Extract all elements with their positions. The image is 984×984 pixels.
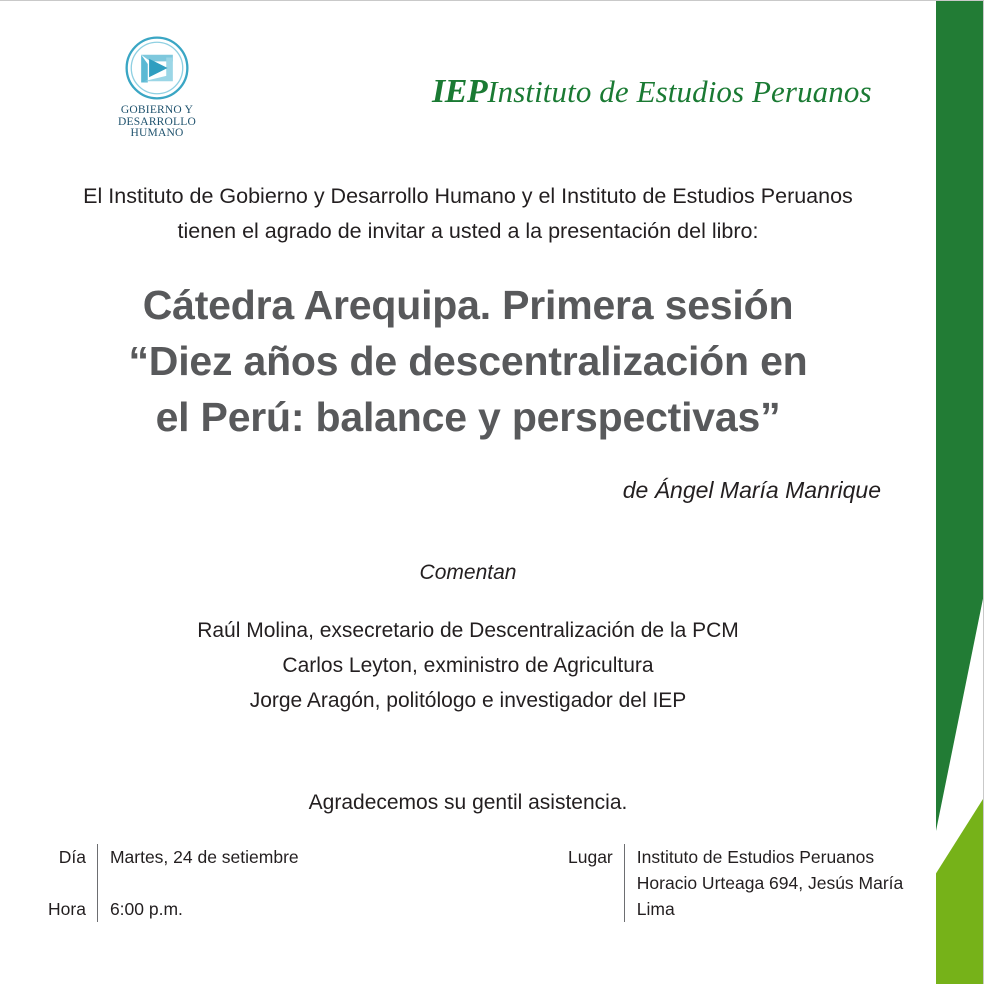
band-dark-green-wedge <box>936 1 983 831</box>
commentator-3: Jorge Aragón, politólogo e investigador … <box>0 683 936 718</box>
datetime-labels: Día Hora <box>48 844 97 922</box>
venue-line-1: Instituto de Estudios Peruanos <box>637 844 904 870</box>
invitation-card: GOBIERNO Y DESARROLLO HUMANO IEPInstitut… <box>0 0 984 984</box>
decorative-side-band <box>936 1 983 984</box>
book-title-line-2: “Diez años de descentralización en <box>0 333 936 389</box>
event-venue-block: Lugar Instituto de Estudios Peruanos Hor… <box>568 844 903 922</box>
venue-labels: Lugar <box>568 844 624 870</box>
intro-line-1: El Instituto de Gobierno y Desarrollo Hu… <box>0 179 936 214</box>
book-title-line-3: el Perú: balance y perspectivas” <box>0 389 936 445</box>
commentator-2: Carlos Leyton, exministro de Agricultura <box>0 648 936 683</box>
venue-line-3: Lima <box>637 896 904 922</box>
gobierno-desarrollo-humano-logo: GOBIERNO Y DESARROLLO HUMANO <box>104 35 210 140</box>
book-author: de Ángel María Manrique <box>0 477 881 504</box>
place-label: Lugar <box>568 844 613 870</box>
gobierno-desarrollo-humano-emblem <box>124 35 190 101</box>
iep-logo: IEPInstituto de Estudios Peruanos <box>432 73 872 111</box>
day-label: Día <box>48 844 86 870</box>
event-details-footer: Día Hora Martes, 24 de setiembre 6:00 p.… <box>0 844 936 954</box>
value-spacer <box>110 870 299 896</box>
venue-values: Instituto de Estudios Peruanos Horacio U… <box>625 844 904 922</box>
book-title-line-1: Cátedra Arequipa. Primera sesión <box>0 277 936 333</box>
time-label: Hora <box>48 896 86 922</box>
iep-logo-mark: IEP <box>432 73 487 110</box>
time-value: 6:00 p.m. <box>110 896 299 922</box>
invitation-intro: El Instituto de Gobierno y Desarrollo Hu… <box>0 179 936 249</box>
venue-line-2: Horacio Urteaga 694, Jesús María <box>637 870 904 896</box>
thanks-note: Agradecemos su gentil asistencia. <box>0 791 936 815</box>
datetime-values: Martes, 24 de setiembre 6:00 p.m. <box>98 844 299 922</box>
intro-line-2: tienen el agrado de invitar a usted a la… <box>0 214 936 249</box>
event-datetime-block: Día Hora Martes, 24 de setiembre 6:00 p.… <box>48 844 299 922</box>
commentators-list: Raúl Molina, exsecretario de Descentrali… <box>0 613 936 718</box>
label-spacer <box>48 870 86 896</box>
gov-logo-line-3: HUMANO <box>104 128 210 140</box>
day-value: Martes, 24 de setiembre <box>110 844 299 870</box>
gov-logo-text: GOBIERNO Y DESARROLLO HUMANO <box>104 105 210 140</box>
commentator-1: Raúl Molina, exsecretario de Descentrali… <box>0 613 936 648</box>
header: GOBIERNO Y DESARROLLO HUMANO IEPInstitut… <box>0 1 936 166</box>
book-title: Cátedra Arequipa. Primera sesión “Diez a… <box>0 277 936 445</box>
iep-logo-name: Instituto de Estudios Peruanos <box>487 74 871 109</box>
band-light-green-wedge <box>936 799 983 984</box>
commentators-label: Comentan <box>0 561 936 585</box>
gov-logo-line-1: GOBIERNO Y <box>104 105 210 117</box>
